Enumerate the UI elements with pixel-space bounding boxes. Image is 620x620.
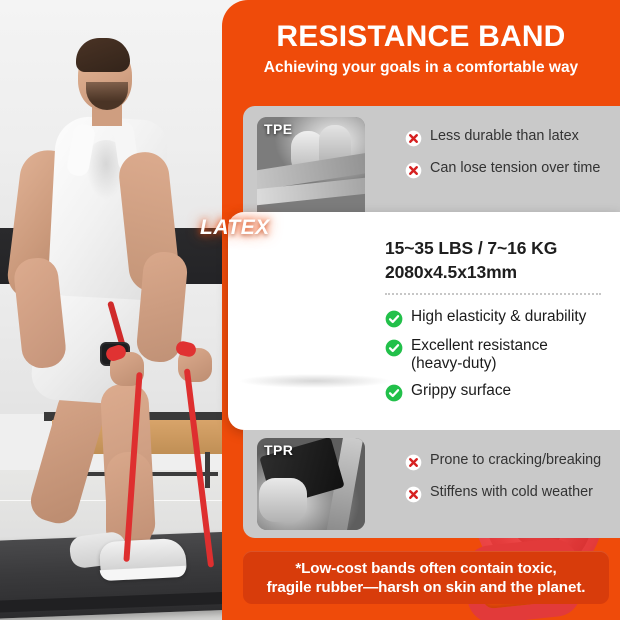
drawback-list-tpe: Less durable than latex Can lose tension… <box>405 128 620 192</box>
product-shadow <box>240 374 390 388</box>
x-circle-icon <box>405 130 422 147</box>
footer-warning-banner: *Low-cost bands often contain toxic, fra… <box>243 551 609 604</box>
list-item: Prone to cracking/breaking <box>405 452 620 471</box>
footer-line-2: fragile rubber—harsh on skin and the pla… <box>267 579 586 596</box>
list-item: Can lose tension over time <box>405 160 620 179</box>
benefit-list-latex: High elasticity & durability Excellent r… <box>385 308 620 411</box>
tpr-photo-hand <box>259 478 307 522</box>
spec-dimensions: 2080x4.5x13mm <box>385 260 613 284</box>
infographic-canvas: RESISTANCE BAND Achieving your goals in … <box>0 0 620 620</box>
page-title: RESISTANCE BAND <box>222 22 620 52</box>
spec-divider <box>385 293 601 295</box>
list-item: Excellent resistance (heavy-duty) <box>385 337 620 373</box>
header: RESISTANCE BAND Achieving your goals in … <box>222 0 620 96</box>
list-item: Grippy surface <box>385 382 620 402</box>
material-label-latex: LATEX <box>200 216 270 240</box>
lifestyle-photo <box>0 0 252 620</box>
x-circle-icon <box>405 454 422 471</box>
list-item: Stiffens with cold weather <box>405 484 620 503</box>
list-item: High elasticity & durability <box>385 308 620 328</box>
footer-line-1: *Low-cost bands often contain toxic, <box>295 560 556 577</box>
drawback-list-tpr: Prone to cracking/breaking Stiffens with… <box>405 452 620 516</box>
photo-hair <box>76 38 130 72</box>
list-item: Less durable than latex <box>405 128 620 147</box>
list-item-label: Grippy surface <box>411 382 511 400</box>
list-item-label: Excellent resistance (heavy-duty) <box>411 337 548 373</box>
list-item-label: Stiffens with cold weather <box>430 484 593 502</box>
list-item-label: Can lose tension over time <box>430 160 600 178</box>
check-circle-icon <box>385 310 403 328</box>
product-spec: 15~35 LBS / 7~16 KG 2080x4.5x13mm <box>385 236 613 284</box>
check-circle-icon <box>385 384 403 402</box>
x-circle-icon <box>405 162 422 179</box>
list-item-label: Prone to cracking/breaking <box>430 452 601 470</box>
list-item-label: Less durable than latex <box>430 128 579 146</box>
footer-warning-text: *Low-cost bands often contain toxic, fra… <box>243 559 609 597</box>
list-item-label: High elasticity & durability <box>411 308 586 326</box>
material-label-tpe: TPE <box>264 121 292 137</box>
material-label-tpr: TPR <box>264 442 293 458</box>
check-circle-icon <box>385 339 403 357</box>
x-circle-icon <box>405 486 422 503</box>
photo-bench-leg <box>205 452 210 488</box>
spec-weight-range: 15~35 LBS / 7~16 KG <box>385 236 613 260</box>
page-subtitle: Achieving your goals in a comfortable wa… <box>222 60 620 76</box>
